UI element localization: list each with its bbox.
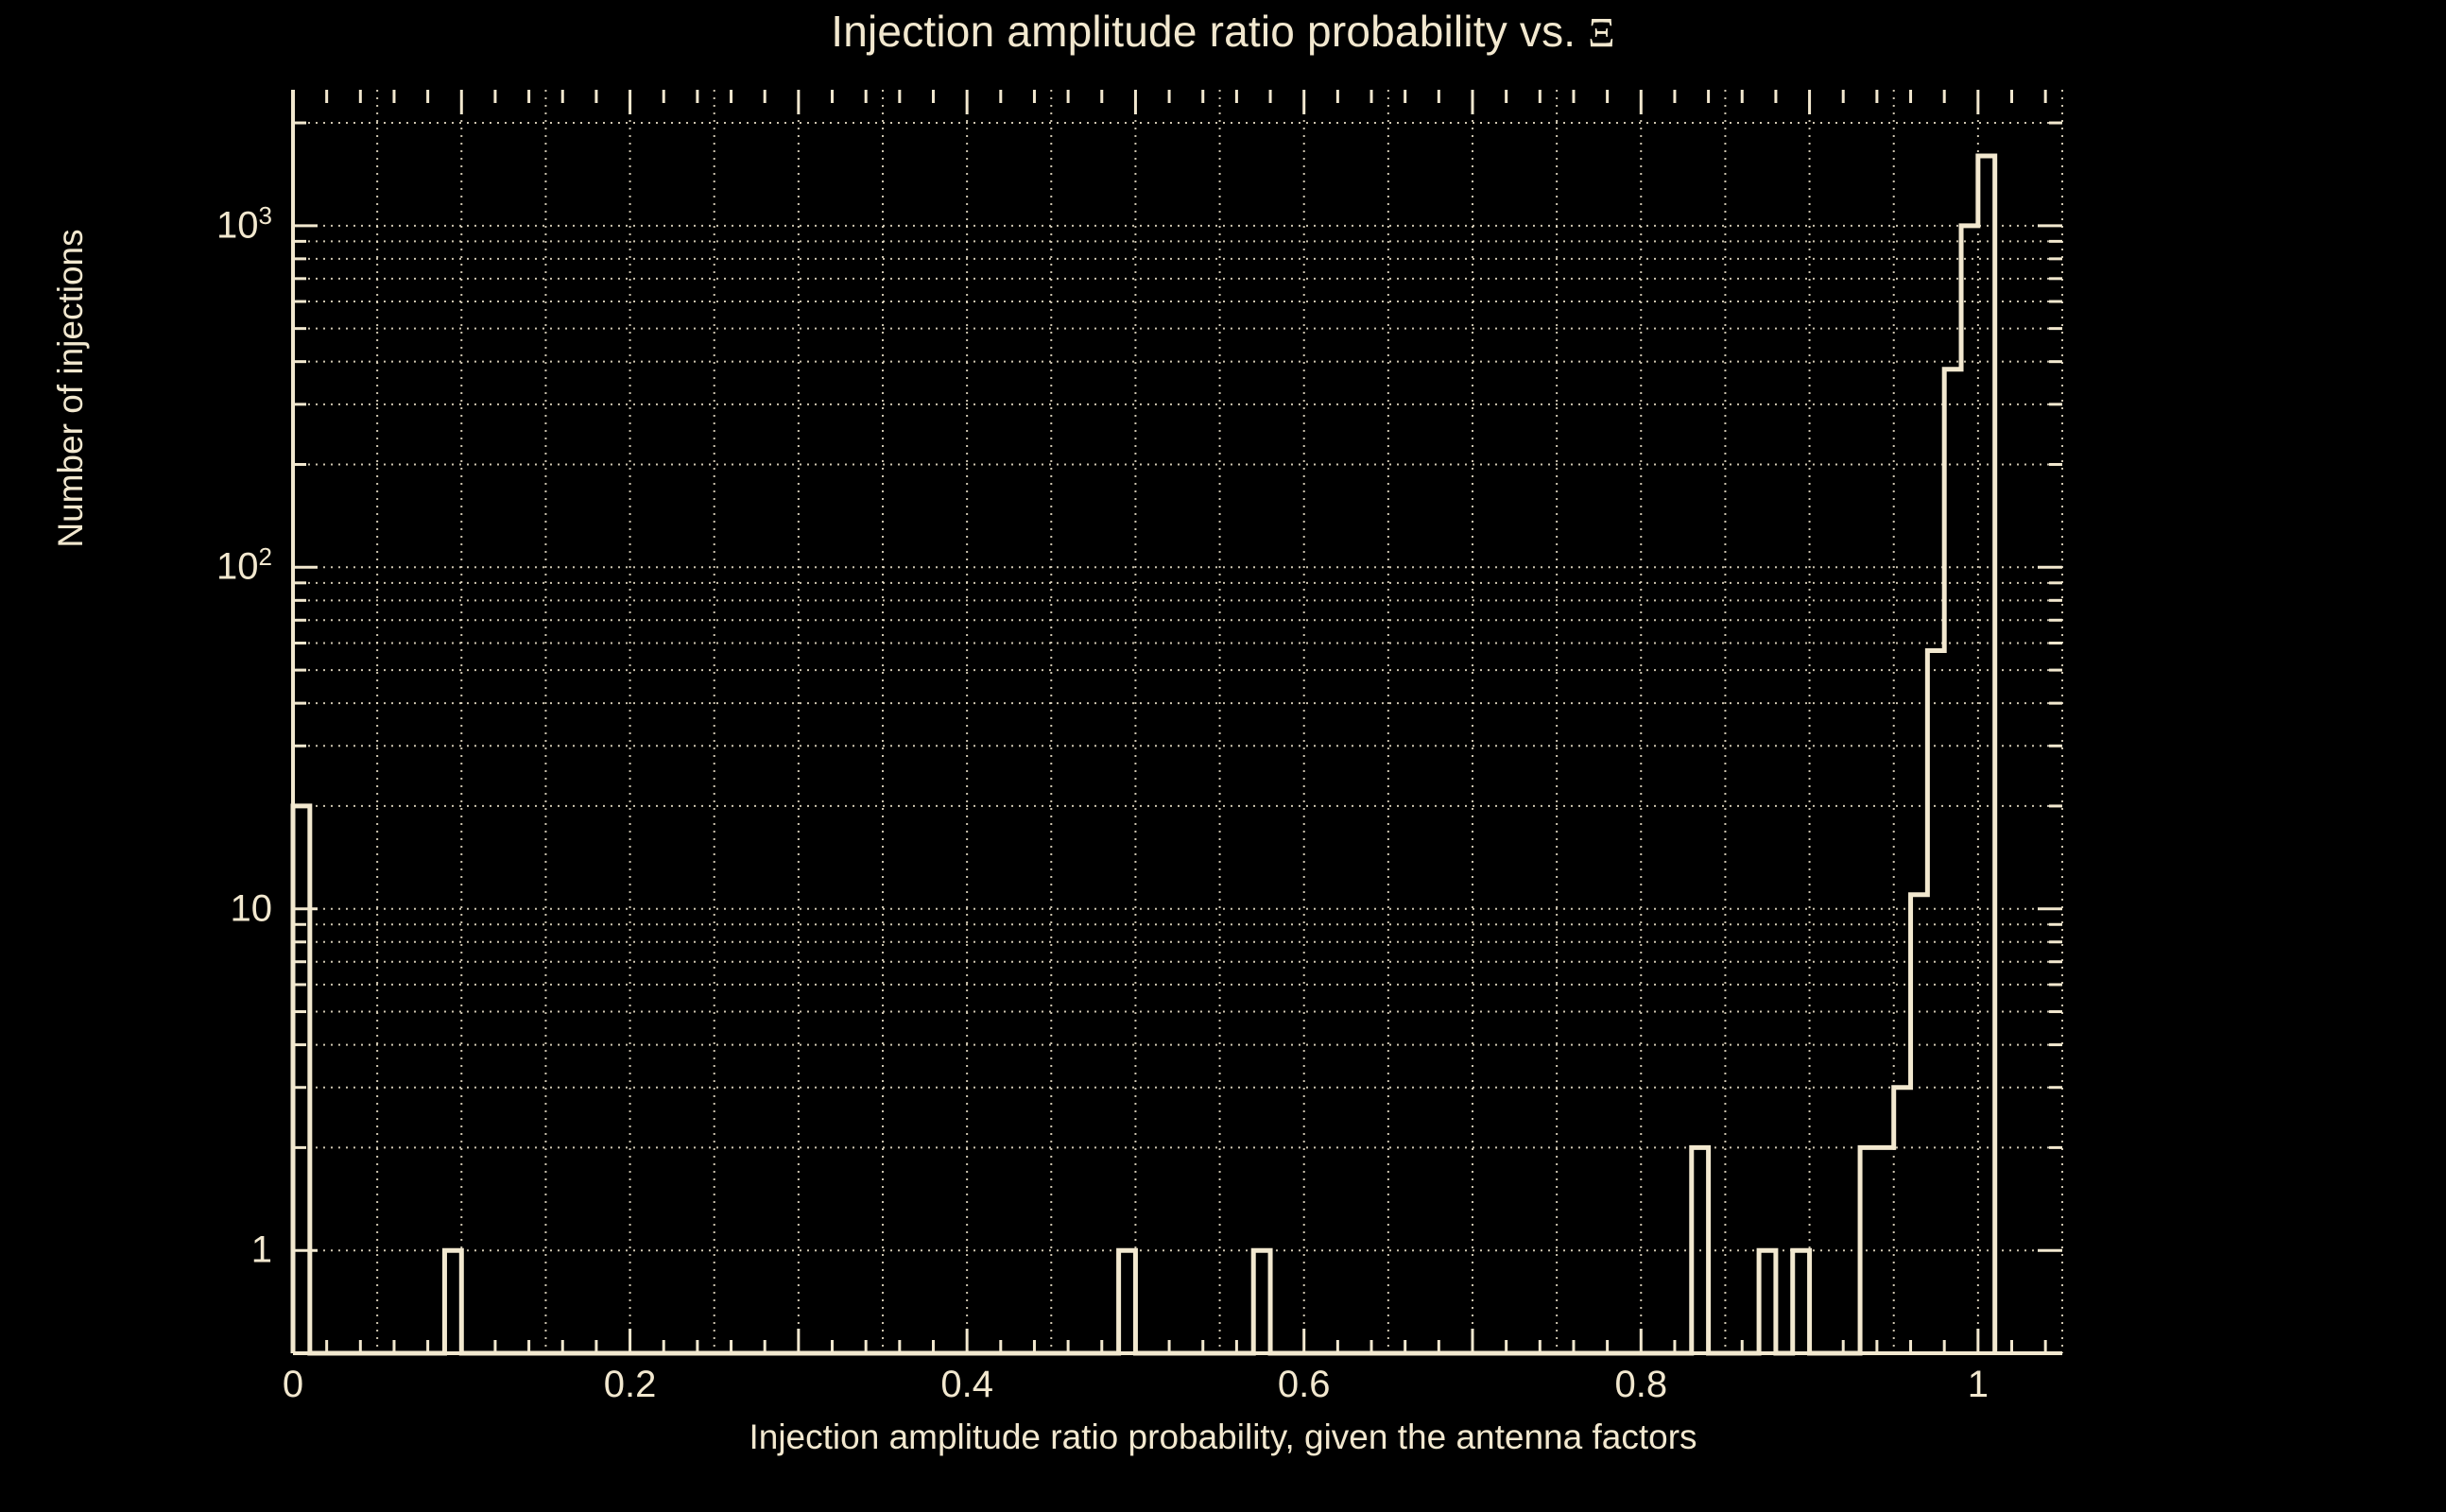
plot-graphics: [0, 0, 2446, 1512]
histogram-outline: [293, 156, 1995, 1353]
page-title: Injection amplitude ratio probability vs…: [0, 6, 2446, 57]
axis-lines: [293, 90, 2062, 1353]
x-tick-label: 1: [1968, 1364, 1989, 1406]
grid-lines: [293, 90, 2062, 1353]
x-axis-title: Injection amplitude ratio probability, g…: [0, 1417, 2446, 1457]
plot-canvas: Injection amplitude ratio probability vs…: [0, 0, 2446, 1512]
x-tick-label: 0: [283, 1364, 303, 1406]
x-tick-label: 0.2: [604, 1364, 657, 1406]
axis-ticks: [293, 90, 2062, 1353]
x-tick-label: 0.4: [940, 1364, 993, 1406]
plot-title-text: Injection amplitude ratio probability vs…: [831, 7, 1588, 56]
x-tick-label: 0.6: [1278, 1364, 1331, 1406]
xi-symbol: Ξ: [1588, 9, 1615, 56]
y-tick-label: 10: [231, 887, 273, 930]
y-tick-label: 102: [216, 546, 272, 589]
y-tick-label: 103: [216, 204, 272, 247]
y-tick-label: 1: [251, 1229, 272, 1272]
y-axis-title: Number of injections: [51, 124, 91, 653]
x-tick-label: 0.8: [1614, 1364, 1667, 1406]
